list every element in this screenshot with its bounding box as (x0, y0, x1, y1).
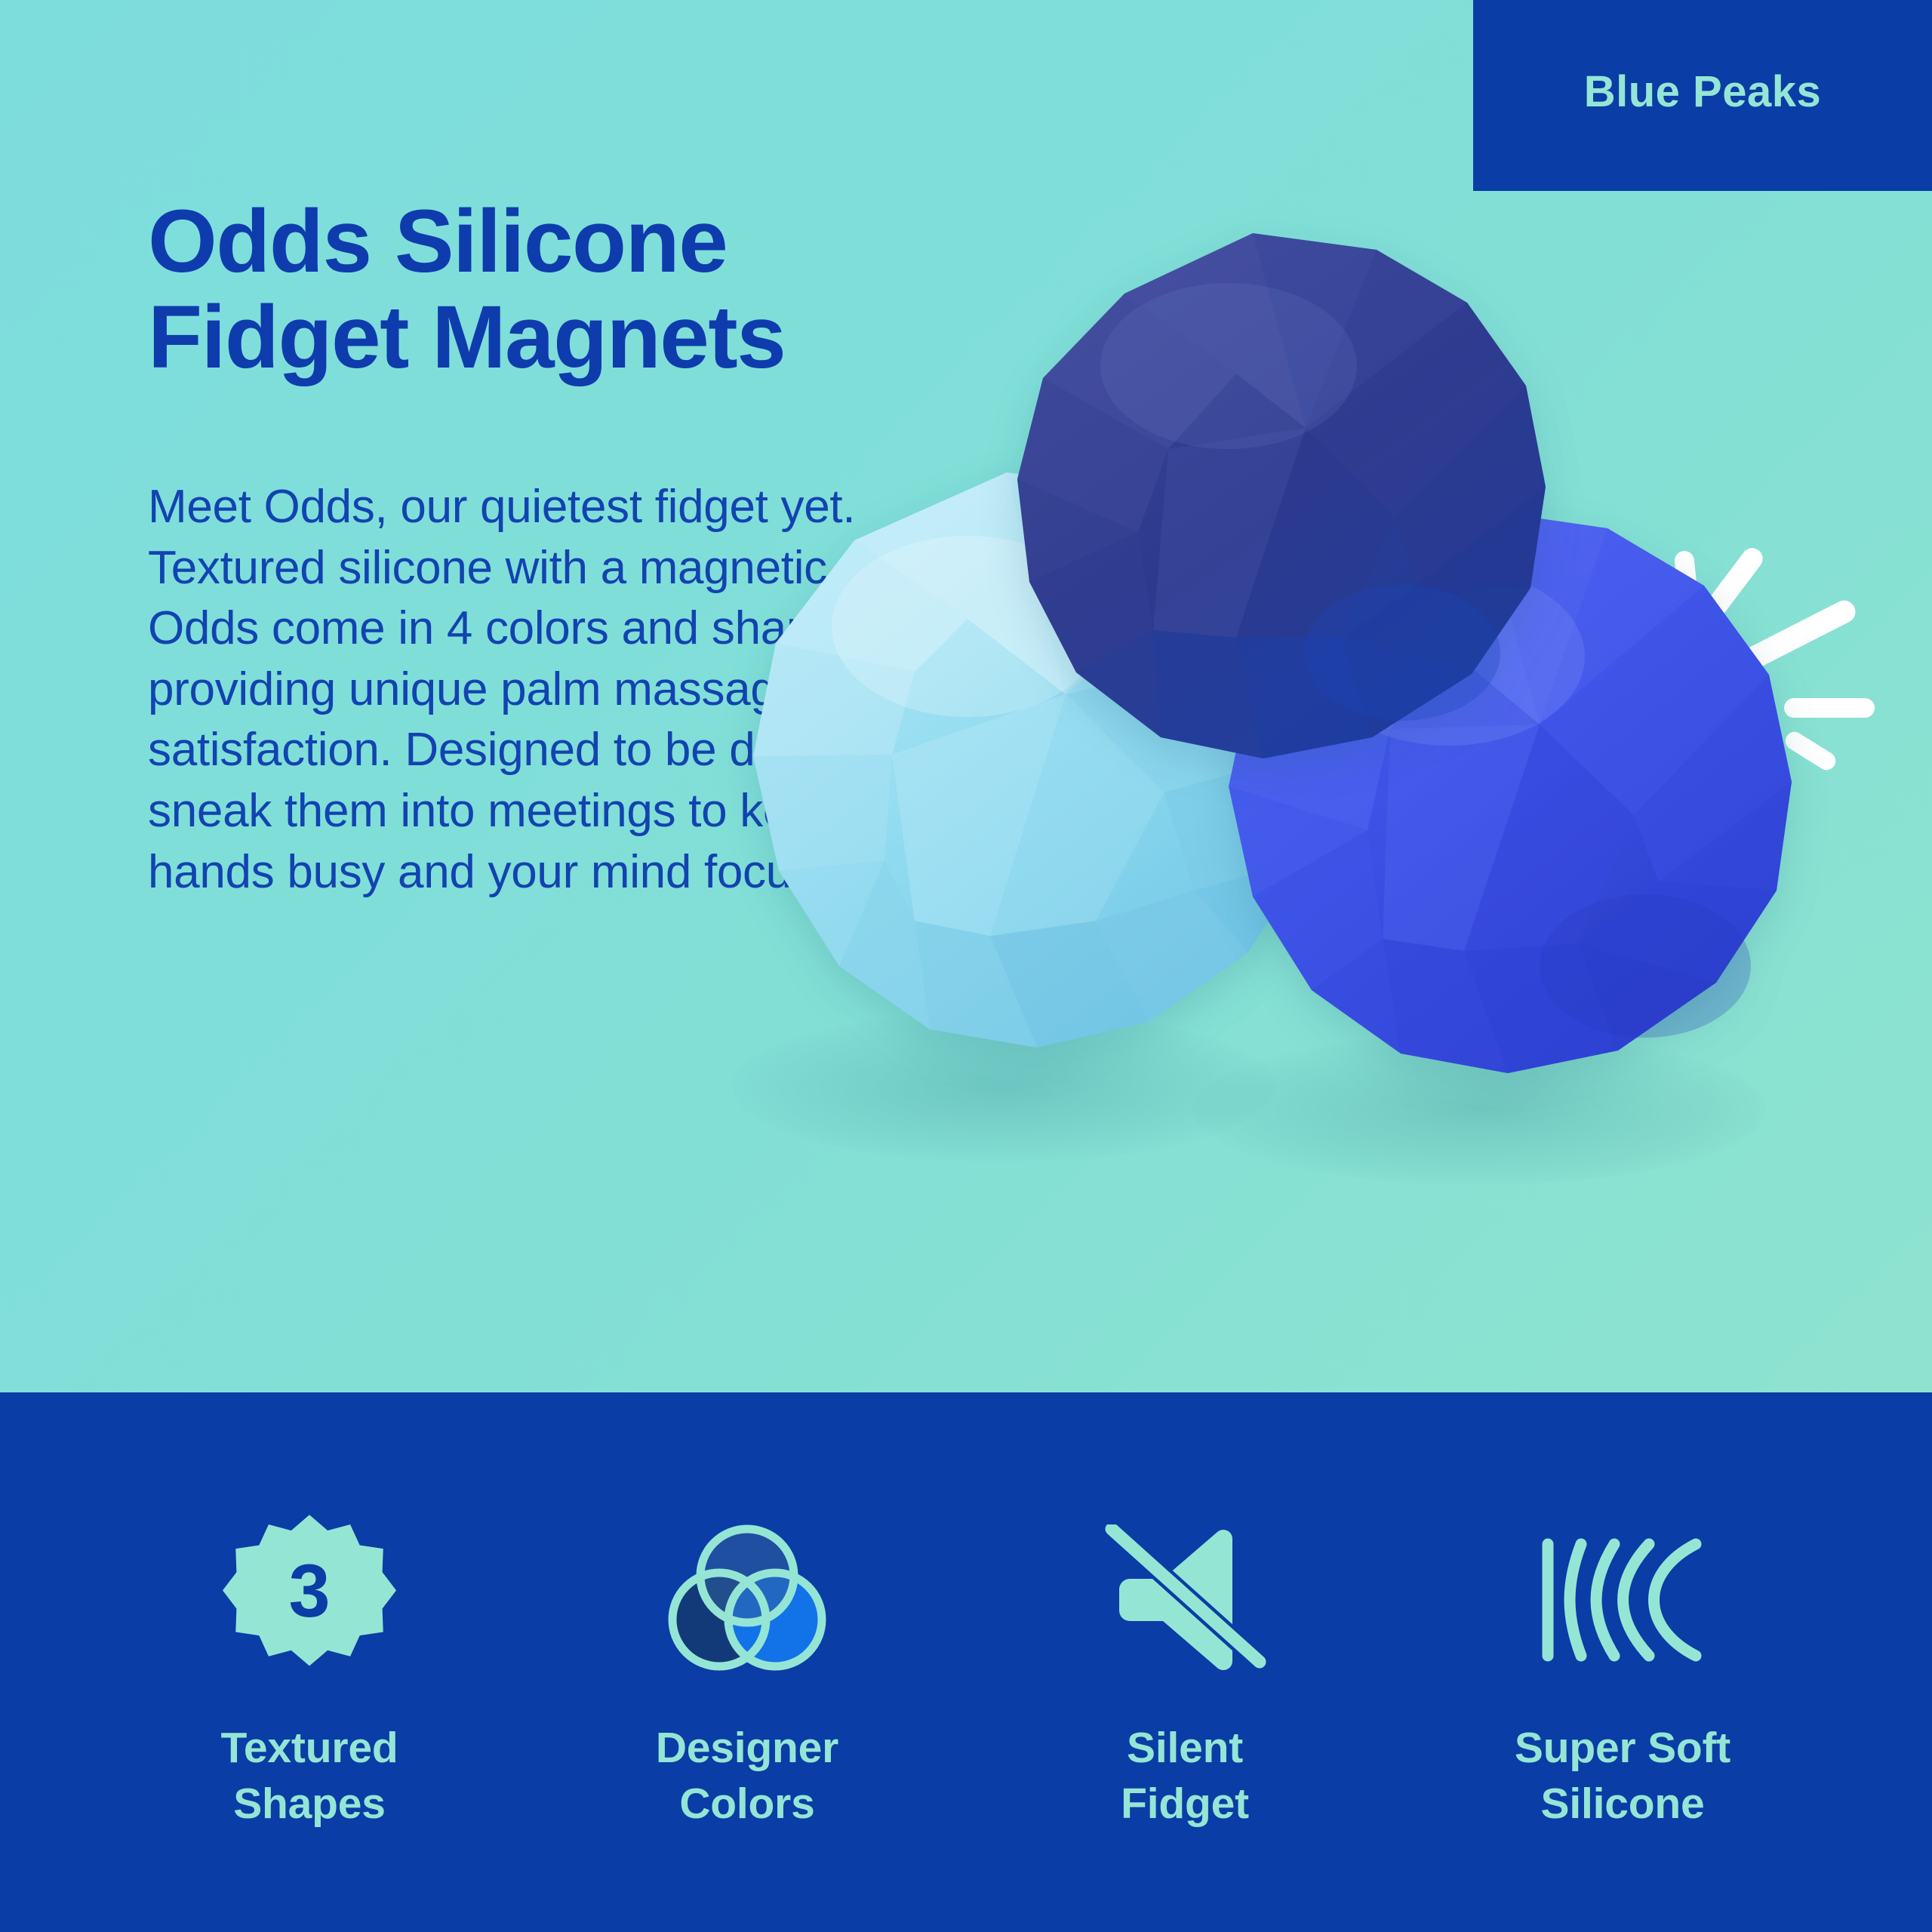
feature-super-soft-silicone: Super Soft Silicone (1404, 1506, 1841, 1832)
feature-label: Silent Fidget (1121, 1720, 1249, 1832)
feature-designer-colors: Designer Colors (528, 1506, 966, 1832)
hero-section: Blue Peaks Odds Silicone Fidget Magnets … (0, 0, 1932, 1392)
product-infographic: Blue Peaks Odds Silicone Fidget Magnets … (0, 0, 1932, 1932)
brand-tag: Blue Peaks (1473, 0, 1932, 191)
feature-label: Super Soft Silicone (1515, 1720, 1730, 1832)
feature-label: Designer Colors (656, 1720, 838, 1832)
soft-flex-waves-icon (1536, 1506, 1709, 1694)
feature-label: Textured Shapes (221, 1720, 398, 1832)
feature-bar: 3 Textured Shapes Designer Colors (0, 1392, 1932, 1932)
muted-speaker-icon (1098, 1506, 1272, 1694)
brand-name: Blue Peaks (1584, 66, 1822, 117)
venn-circles-icon (660, 1506, 834, 1694)
navy-faceted-ball (1010, 230, 1561, 774)
badge-number: 3 (289, 1549, 331, 1632)
product-photo (770, 249, 1932, 1392)
feature-silent-fidget: Silent Fidget (966, 1506, 1404, 1832)
feature-textured-shapes: 3 Textured Shapes (91, 1506, 528, 1832)
starburst-badge-icon: 3 (223, 1506, 396, 1694)
